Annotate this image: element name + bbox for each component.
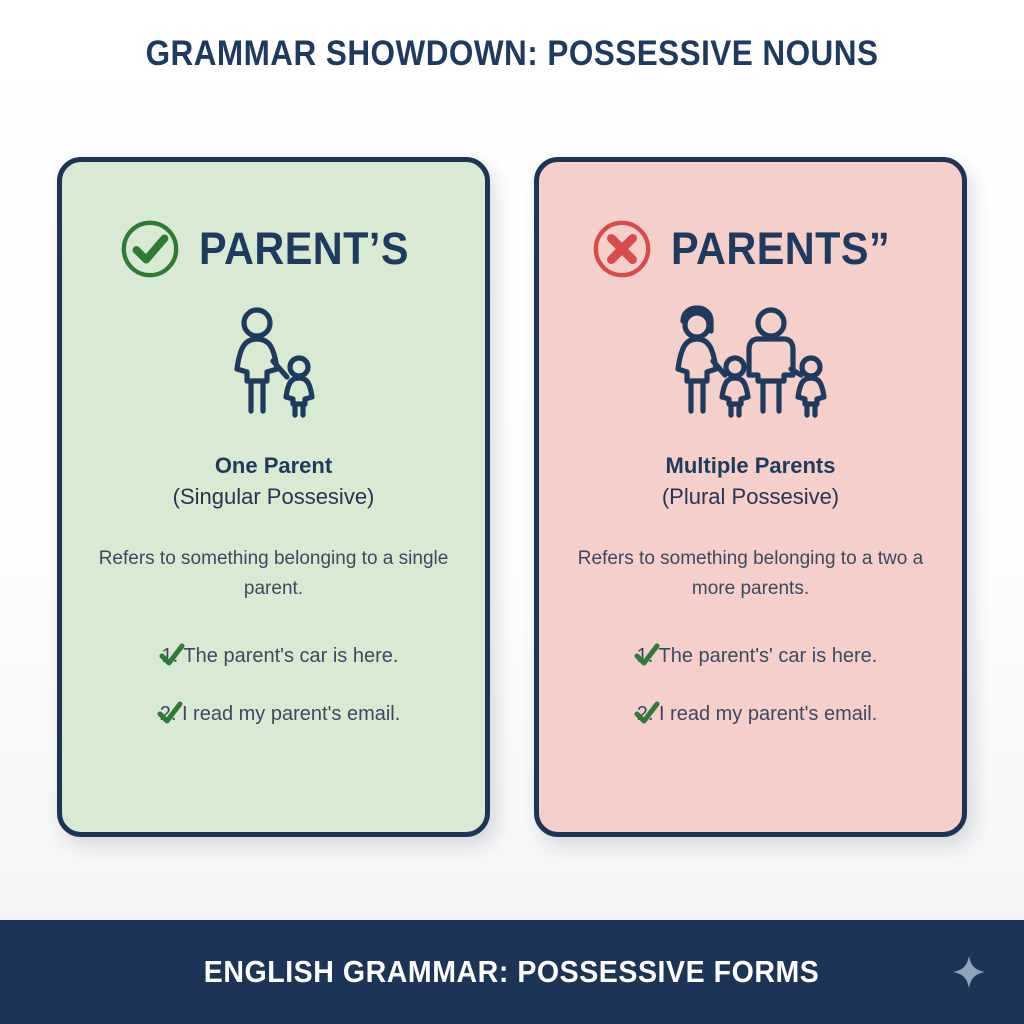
label-sub-plural: (Plural Possesive) xyxy=(662,484,839,510)
family-of-four-icon xyxy=(667,303,835,421)
footer-bar: ENGLISH GRAMMAR: POSSESSIVE FORMS xyxy=(0,920,1024,1024)
label-main-plural: Multiple Parents xyxy=(666,453,836,479)
example-text: 1. The parent's' car is here. xyxy=(637,645,878,668)
check-icon xyxy=(634,642,660,668)
figure-one-parent-one-child xyxy=(215,301,333,421)
example-text: 2. I read my parent's email. xyxy=(160,703,401,726)
example-item: 2. I read my parent's email. xyxy=(571,700,931,728)
card-singular-possessive[interactable]: PARENT’S xyxy=(57,157,490,837)
infographic-page: GRAMMAR SHOWDOWN: POSSESSIVE NOUNS PAREN… xyxy=(0,0,1024,1024)
comparison-cards: PARENT’S xyxy=(57,157,967,837)
example-item: 1. The parent's car is here. xyxy=(94,642,454,670)
four-point-star-icon xyxy=(952,955,986,989)
card-word-singular: PARENT’S xyxy=(199,223,409,275)
check-icon xyxy=(634,700,660,726)
examples-plural: 1. The parent's' car is here. 2. I read … xyxy=(571,642,931,728)
check-icon xyxy=(157,700,183,726)
card-plural-possessive[interactable]: PARENTS” xyxy=(534,157,967,837)
description-plural: Refers to something belonging to a two a… xyxy=(573,544,928,604)
examples-singular: 1. The parent's car is here. 2. I read m… xyxy=(94,642,454,728)
card-header-singular: PARENT’S xyxy=(119,217,427,281)
description-singular: Refers to something belonging to a singl… xyxy=(96,544,451,604)
card-word-plural: PARENTS” xyxy=(671,223,890,275)
label-main-singular: One Parent xyxy=(215,453,332,479)
card-header-plural: PARENTS” xyxy=(591,217,909,281)
example-item: 1. The parent's' car is here. xyxy=(571,642,931,670)
example-item: 2. I read my parent's email. xyxy=(94,700,454,728)
check-icon xyxy=(159,642,185,668)
one-parent-one-child-icon xyxy=(215,303,333,421)
label-sub-singular: (Singular Possesive) xyxy=(173,484,375,510)
example-text: 2. I read my parent's email. xyxy=(637,703,878,726)
page-title: GRAMMAR SHOWDOWN: POSSESSIVE NOUNS xyxy=(51,34,973,74)
example-text: 1. The parent's car is here. xyxy=(162,645,399,668)
figure-family-of-four xyxy=(667,301,835,421)
check-circle-icon xyxy=(119,218,181,280)
x-circle-icon xyxy=(591,218,653,280)
footer-title: ENGLISH GRAMMAR: POSSESSIVE FORMS xyxy=(204,954,820,990)
